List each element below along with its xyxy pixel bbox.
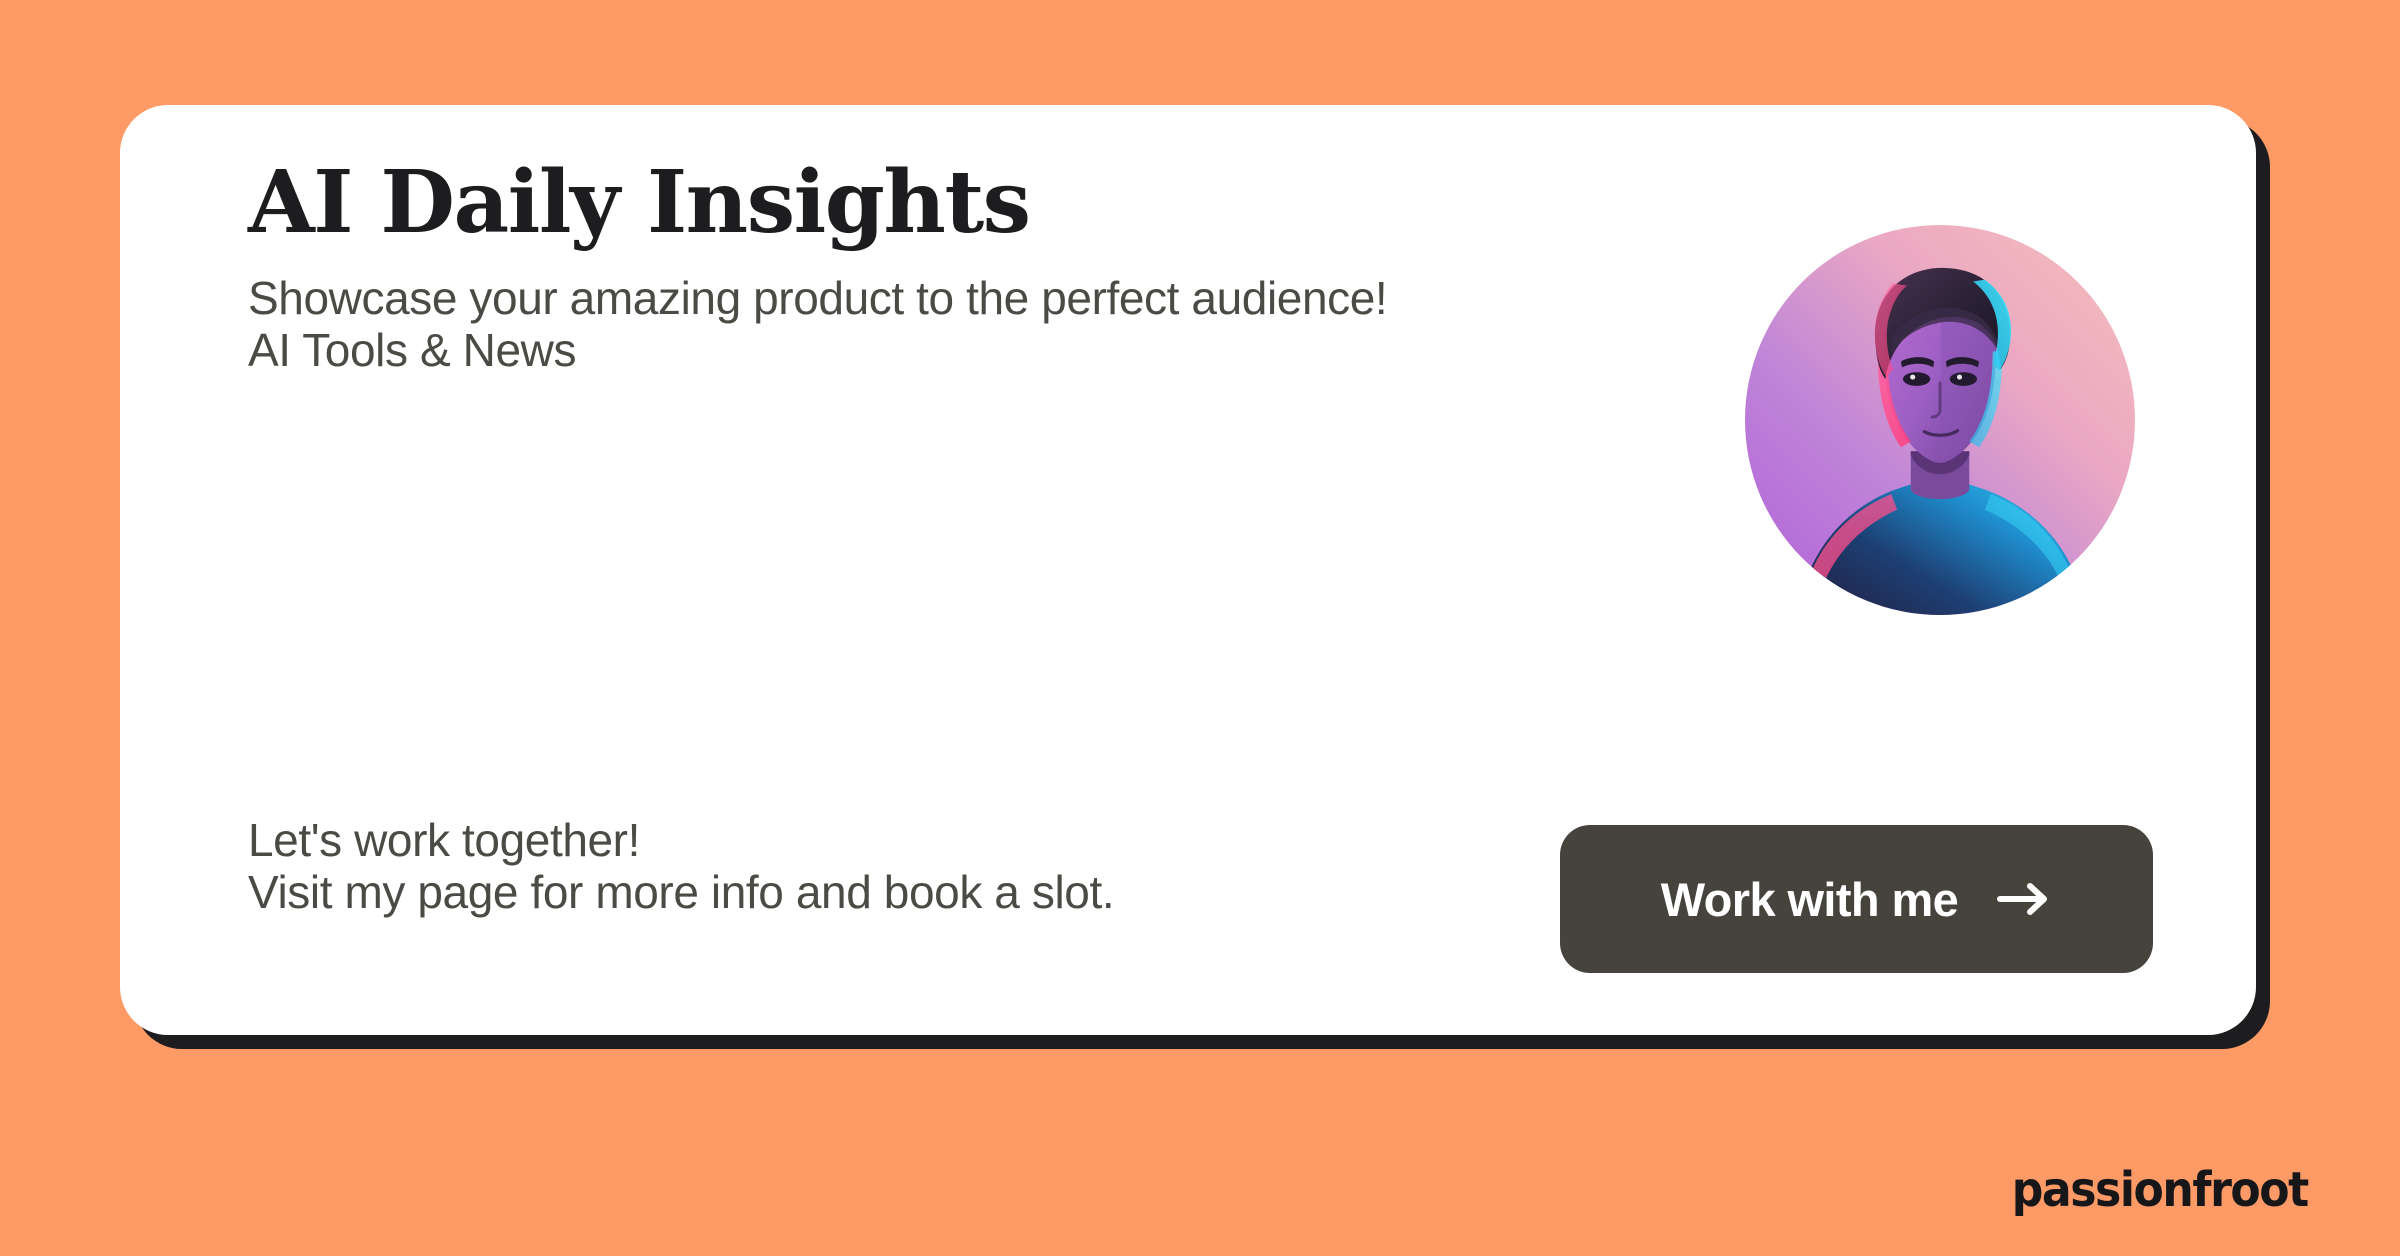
passionfroot-logo: passionfroot [2012, 1162, 2308, 1218]
avatar-portrait-icon [1745, 225, 2135, 615]
work-with-me-button[interactable]: Work with me [1560, 825, 2153, 973]
card-header: AI Daily Insights Showcase your amazing … [248, 160, 1578, 377]
promo-card: AI Daily Insights Showcase your amazing … [120, 105, 2256, 1035]
arrow-right-icon [1996, 882, 2052, 916]
work-with-me-label: Work with me [1661, 872, 1958, 927]
footer-line-2: Visit my page for more info and book a s… [248, 867, 1114, 919]
card-subtitle: Showcase your amazing product to the per… [248, 272, 1408, 377]
footer-text-block: Let's work together! Visit my page for m… [248, 815, 1114, 918]
promo-card-page: { "theme": { "background_color": "#fd9a6… [0, 0, 2400, 1256]
page-title: AI Daily Insights [248, 160, 1578, 246]
footer-line-1: Let's work together! [248, 815, 1114, 867]
promo-card-wrapper: AI Daily Insights Showcase your amazing … [120, 105, 2256, 1035]
card-footer: Let's work together! Visit my page for m… [120, 805, 2256, 975]
avatar [1745, 225, 2135, 615]
